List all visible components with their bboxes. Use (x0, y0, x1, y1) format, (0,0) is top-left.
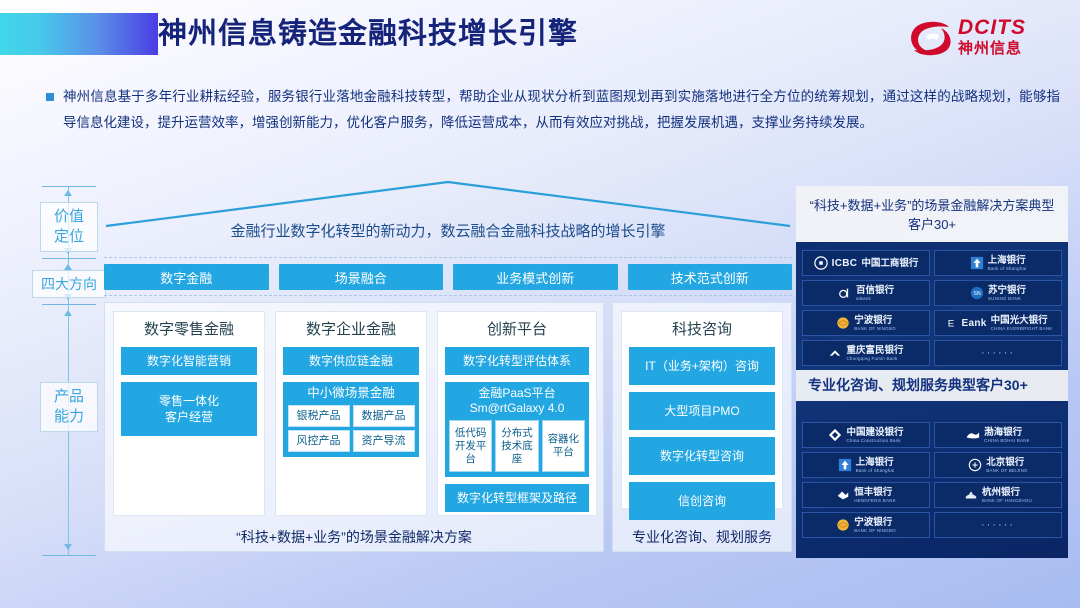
bank-name-en: China Construction Bank (846, 438, 900, 444)
sme-scenario-finance-group: 中小微场景金融 银税产品 数据产品 风控产品 资产导流 (283, 382, 419, 457)
bank-name-en: BANK OF NINGBO (854, 326, 896, 332)
bullet-icon (46, 93, 54, 101)
dcits-logo: DCITS 神州信息 (908, 16, 1056, 64)
customer-logos-panel: “科技+数据+业务”的场景金融解决方案典型客户30+ ICBC中国工商银行上海银… (796, 186, 1068, 558)
bank-of-ningbo-icon (836, 518, 850, 532)
bank-name-cn: 宁波银行 (854, 315, 892, 326)
mini-product-grid: 银税产品 数据产品 风控产品 资产导流 (287, 405, 415, 452)
dcits-logo-text: DCITS 神州信息 (958, 16, 1026, 58)
column-title: 数字零售金融 (121, 318, 257, 342)
header-accent-bar (0, 13, 158, 55)
hengfeng-bank-icon (836, 488, 850, 502)
bank-name-en: aiBank (856, 296, 871, 302)
paas-cell-1[interactable]: 分布式技术底座 (495, 420, 538, 472)
axis-label-product-capability: 产品 能力 (40, 382, 98, 432)
four-directions-row: 数字金融 场景融合 业务模式创新 技术范式创新 (104, 264, 792, 290)
axis-rule-top (42, 186, 96, 187)
page-header: 神州信息铸造金融科技增长引擎 DCITS 神州信息 (0, 0, 1080, 72)
customer-logo-cell: SN苏宁银行SUNING BANK (934, 280, 1062, 306)
product-item[interactable]: 信创咨询 (629, 482, 775, 520)
customer-logo-cell: 宁波银行BANK OF NINGBO (802, 512, 930, 538)
customer-logo-cell: 百信银行aiBank (802, 280, 930, 306)
paas-title-line2: Sm@rtGalaxy 4.0 (449, 401, 585, 416)
customer-logo-cell: ICBC中国工商银行 (802, 250, 930, 276)
icbc-icon (814, 256, 828, 270)
bank-of-beijing-icon (968, 458, 982, 472)
bank-name-en: Chongqing Fumin Bank (846, 356, 897, 362)
product-item-line2: 客户经营 (123, 409, 255, 425)
bank-name-block: 苏宁银行SUNING BANK (988, 285, 1026, 302)
bank-name-block: 中国建设银行China Construction Bank (846, 427, 903, 444)
product-item[interactable]: 数字化转型评估体系 (445, 347, 589, 375)
panel-heading-1: “科技+数据+业务”的场景金融解决方案典型客户30+ (796, 186, 1068, 242)
arrow-up-icon (64, 190, 72, 196)
mini-product-0[interactable]: 银税产品 (288, 405, 350, 427)
bank-name-cn: 上海银行 (856, 457, 894, 468)
column-title: 创新平台 (445, 318, 589, 342)
axis-label-line1: 产品 (41, 387, 97, 407)
dashed-separator-bottom (104, 295, 792, 296)
bank-name-en: SUNING BANK (988, 296, 1021, 302)
mini-product-2[interactable]: 风控产品 (288, 430, 350, 452)
right-group-caption: 专业化咨询、规划服务 (613, 527, 791, 547)
bank-name-block: 宁波银行BANK OF NINGBO (854, 517, 896, 534)
bank-name-en: CHINA BOHAI BANK (984, 438, 1030, 444)
customer-logo-cell: 上海银行Bank of Shanghai (934, 250, 1062, 276)
product-item[interactable]: 数字化转型咨询 (629, 437, 775, 475)
svg-text:E: E (947, 319, 953, 330)
customer-logo-cell: 重庆富民银行Chongqing Fumin Bank (802, 340, 930, 366)
direction-chip-2[interactable]: 业务模式创新 (453, 264, 618, 290)
product-item[interactable]: 大型项目PMO (629, 392, 775, 430)
axis-rule-bottom (42, 555, 96, 556)
bank-name-cn: 宁波银行 (854, 517, 892, 528)
bank-name-en: HENGFENG BANK (854, 498, 896, 504)
roof-section: 金融行业数字化转型的新动力，数云融合金融科技战略的增长引擎 (104, 180, 792, 255)
bank-name-en: Bank of Shanghai (856, 468, 895, 474)
direction-chip-1[interactable]: 场景融合 (279, 264, 444, 290)
customer-logo-cell: ······ (934, 512, 1062, 538)
customer-logo-cell: 中国建设银行China Construction Bank (802, 422, 930, 448)
left-axis-labels: 价值 定位 四大方向 产品 能力 (34, 186, 104, 556)
bank-name-cn: 中国工商银行 (861, 258, 918, 269)
axis-label-line2: 定位 (41, 227, 97, 247)
group-title: 中小微场景金融 (287, 386, 415, 401)
product-capability-area: 数字零售金融 数字化智能营销 零售一体化 客户经营 数字企业金融 数字供应链金融… (104, 302, 792, 552)
column-title: 数字企业金融 (283, 318, 419, 342)
financial-paas-platform: 金融PaaS平台 Sm@rtGalaxy 4.0 低代码开发平台 分布式技术底座… (445, 382, 589, 477)
bank-name-en: Bank of Shanghai (988, 266, 1027, 272)
page-title: 神州信息铸造金融科技增长引擎 (158, 12, 578, 56)
bank-of-shanghai-icon (838, 458, 852, 472)
bank-name-en: BANK OF HANGZHOU (982, 498, 1032, 504)
column-innovation-platform: 创新平台 数字化转型评估体系 金融PaaS平台 Sm@rtGalaxy 4.0 … (437, 311, 597, 516)
paas-cell-2[interactable]: 容器化平台 (542, 420, 585, 472)
product-item[interactable]: 数字供应链金融 (283, 347, 419, 375)
fumin-bank-icon (828, 346, 842, 360)
ccb-icon (828, 428, 842, 442)
axis-label-value-position: 价值 定位 (40, 202, 98, 252)
bank-name-block: 中国光大银行CHINA EVERBRIGHT BANK (991, 315, 1053, 332)
column-digital-enterprise-finance: 数字企业金融 数字供应链金融 中小微场景金融 银税产品 数据产品 风控产品 资产… (275, 311, 427, 516)
intro-paragraph: 神州信息基于多年行业耕耘经验，服务银行业落地金融科技转型，帮助企业从现状分析到蓝… (30, 84, 1060, 136)
ellipsis-icon: ······ (981, 347, 1015, 359)
bank-name-en: BANK OF BEIJING (986, 468, 1028, 474)
intro-text: 神州信息基于多年行业耕耘经验，服务银行业落地金融科技转型，帮助企业从现状分析到蓝… (30, 84, 1060, 136)
paas-cell-row: 低代码开发平台 分布式技术底座 容器化平台 (449, 420, 585, 472)
svg-text:SN: SN (973, 291, 981, 297)
bank-name-en: BANK OF NINGBO (854, 528, 896, 534)
bank-name-cn: 恒丰银行 (854, 487, 892, 498)
customer-logo-grid-2: 中国建设银行China Construction Bank渤海银行CHINA B… (802, 422, 1062, 538)
left-group-caption: “科技+数据+业务”的场景金融解决方案 (105, 527, 603, 547)
bank-name-block: 重庆富民银行Chongqing Fumin Bank (846, 345, 903, 362)
roof-tagline: 金融行业数字化转型的新动力，数云融合金融科技战略的增长引擎 (104, 220, 792, 241)
customer-logo-grid-1: ICBC中国工商银行上海银行Bank of Shanghai百信银行aiBank… (802, 250, 1062, 366)
product-item[interactable]: 数字化智能营销 (121, 347, 257, 375)
bank-name-block: 宁波银行BANK OF NINGBO (854, 315, 896, 332)
axis-rule-mid1 (42, 258, 96, 259)
column-technology-consulting: 科技咨询 IT（业务+架构）咨询 大型项目PMO 数字化转型咨询 信创咨询 (621, 311, 783, 509)
bank-name-block: 中国工商银行 (861, 258, 918, 269)
bank-of-shanghai-icon (970, 256, 984, 270)
bank-name-cn: 杭州银行 (982, 487, 1020, 498)
axis-rule-mid2 (42, 304, 96, 305)
paas-cell-0[interactable]: 低代码开发平台 (449, 420, 492, 472)
column-title: 科技咨询 (629, 318, 775, 342)
bank-abbreviation: Eank (962, 318, 987, 329)
product-item[interactable]: IT（业务+架构）咨询 (629, 347, 775, 385)
axis-label-line2: 能力 (41, 407, 97, 427)
customer-logo-cell: 杭州银行BANK OF HANGZHOU (934, 482, 1062, 508)
aibank-icon (838, 286, 852, 300)
bank-name-block: 北京银行BANK OF BEIJING (986, 457, 1028, 474)
arrow-down-icon (64, 544, 72, 550)
bank-name-cn: 重庆富民银行 (846, 345, 903, 356)
mini-product-1[interactable]: 数据产品 (353, 405, 415, 427)
bank-name-block: 渤海银行CHINA BOHAI BANK (984, 427, 1030, 444)
everbright-icon: E (944, 316, 958, 330)
customer-logo-cell: EEank中国光大银行CHINA EVERBRIGHT BANK (934, 310, 1062, 336)
bank-name-en: CHINA EVERBRIGHT BANK (991, 326, 1053, 332)
axis-label-four-directions: 四大方向 (32, 270, 106, 298)
bank-name-block: 百信银行aiBank (856, 285, 894, 302)
bank-name-cn: 百信银行 (856, 285, 894, 296)
scenario-finance-group: 数字零售金融 数字化智能营销 零售一体化 客户经营 数字企业金融 数字供应链金融… (104, 302, 604, 552)
customer-logo-cell: ······ (934, 340, 1062, 366)
paas-title-line1: 金融PaaS平台 (449, 386, 585, 401)
bank-name-block: 杭州银行BANK OF HANGZHOU (982, 487, 1032, 504)
bank-name-block: 恒丰银行HENGFENG BANK (854, 487, 896, 504)
consulting-group: 科技咨询 IT（业务+架构）咨询 大型项目PMO 数字化转型咨询 信创咨询 专业… (612, 302, 792, 552)
product-item-framework[interactable]: 数字化转型框架及路径 (445, 484, 589, 512)
axis-label-line1: 价值 (41, 207, 97, 227)
mini-product-3[interactable]: 资产导流 (353, 430, 415, 452)
column-digital-retail-finance: 数字零售金融 数字化智能营销 零售一体化 客户经营 (113, 311, 265, 516)
direction-chip-0[interactable]: 数字金融 (104, 264, 269, 290)
bank-name-cn: 中国光大银行 (991, 315, 1048, 326)
bank-name-cn: 中国建设银行 (846, 427, 903, 438)
bank-name-cn: 苏宁银行 (988, 285, 1026, 296)
customer-logo-cell: 北京银行BANK OF BEIJING (934, 452, 1062, 478)
bank-name-cn: 上海银行 (988, 255, 1026, 266)
bank-name-block: 上海银行Bank of Shanghai (988, 255, 1027, 272)
suning-bank-icon: SN (970, 286, 984, 300)
dcits-logo-mark (908, 20, 952, 58)
customer-logo-cell: 渤海银行CHINA BOHAI BANK (934, 422, 1062, 448)
direction-chip-3[interactable]: 技术范式创新 (628, 264, 793, 290)
panel-heading-2: 专业化咨询、规划服务典型客户30+ (796, 370, 1068, 401)
dashed-separator-top (104, 257, 792, 258)
product-item[interactable]: 零售一体化 客户经营 (121, 382, 257, 436)
customer-logo-cell: 宁波银行BANK OF NINGBO (802, 310, 930, 336)
bank-name-cn: 北京银行 (986, 457, 1024, 468)
logo-en-text: DCITS (958, 16, 1026, 39)
bank-name-block: 上海银行Bank of Shanghai (856, 457, 895, 474)
logo-cn-text: 神州信息 (958, 39, 1026, 58)
customer-logo-cell: 上海银行Bank of Shanghai (802, 452, 930, 478)
bohai-bank-icon (966, 428, 980, 442)
ellipsis-icon: ······ (981, 519, 1015, 531)
customer-logo-cell: 恒丰银行HENGFENG BANK (802, 482, 930, 508)
bank-of-hangzhou-icon (964, 488, 978, 502)
bank-name-cn: 渤海银行 (984, 427, 1022, 438)
product-item-line1: 零售一体化 (123, 393, 255, 409)
bank-abbreviation: ICBC (832, 258, 858, 269)
bank-of-ningbo-icon (836, 316, 850, 330)
arrow-up-icon (64, 310, 72, 316)
